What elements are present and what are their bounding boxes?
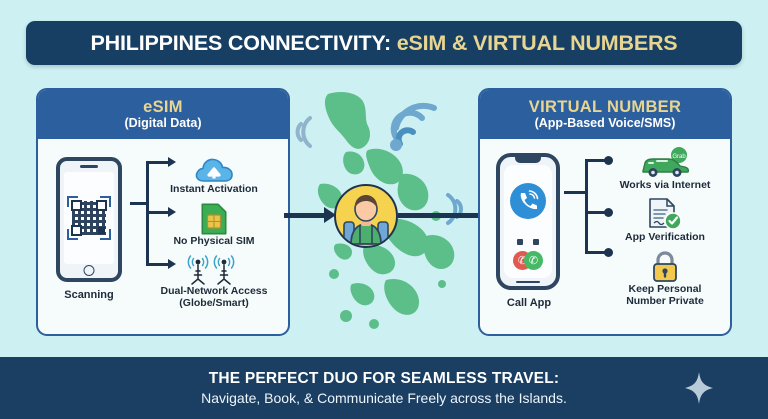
- feature-dual-network-access: Dual-Network Access (Globe/Smart): [156, 251, 272, 309]
- scan-bracket: [100, 196, 111, 207]
- wifi-signal-icon: [382, 100, 444, 152]
- phone-home-button: [84, 265, 95, 276]
- flow-arrow-out: [398, 213, 484, 218]
- panel-esim-header: eSIM (Digital Data): [38, 90, 288, 139]
- document-check-icon: [602, 197, 728, 231]
- scan-bracket: [100, 229, 111, 240]
- bottom-headline: THE PERFECT DUO FOR SEAMLESS TRAVEL:: [209, 370, 560, 388]
- cloud-upload-icon: [156, 149, 272, 183]
- panel-virtual-number-body: ✆ ✆ Call App Grab: [480, 139, 730, 336]
- sparkle-icon: [684, 371, 714, 405]
- phone-screen: [64, 172, 114, 264]
- feature-label: Instant Activation: [156, 183, 272, 195]
- padlock-icon: [602, 249, 728, 283]
- title-lead: PHILIPPINES CONNECTIVITY:: [91, 31, 391, 55]
- call-icon: [510, 183, 546, 219]
- phone-speaker: [80, 165, 98, 168]
- feature-label-line1: Dual-Network Access: [156, 285, 272, 297]
- panel-esim-subtitle: (Digital Data): [124, 117, 201, 130]
- svg-text:Grab: Grab: [672, 154, 686, 160]
- title-accent: eSIM & VIRTUAL NUMBERS: [397, 31, 678, 55]
- infographic-root: PHILIPPINES CONNECTIVITY: eSIM & VIRTUAL…: [0, 0, 768, 419]
- panel-virtual-number-title: VIRTUAL NUMBER: [529, 99, 681, 116]
- sim-card-icon: [156, 201, 272, 235]
- feature-label-line2: (Globe/Smart): [156, 297, 272, 309]
- feature-label-line2: Number Private: [602, 295, 728, 307]
- panel-virtual-number: VIRTUAL NUMBER (App-Based Voice/SMS): [478, 88, 732, 336]
- bottom-banner: THE PERFECT DUO FOR SEAMLESS TRAVEL: Nav…: [0, 357, 768, 419]
- feature-label: Works via Internet: [602, 179, 728, 191]
- feature-works-via-internet: Grab Works via Internet: [602, 145, 728, 191]
- feature-label: App Verification: [602, 231, 728, 243]
- keypad-dot: [517, 239, 523, 245]
- traveler-backpacker-avatar: [334, 184, 398, 248]
- phone-qr-scan-icon: [56, 157, 122, 282]
- cell-towers-icon: [156, 251, 272, 285]
- bottom-subline: Navigate, Book, & Communicate Freely acr…: [201, 390, 567, 406]
- center-map-area: [290, 88, 478, 338]
- signal-arcs-icon: [440, 188, 470, 230]
- title-bar: PHILIPPINES CONNECTIVITY: eSIM & VIRTUAL…: [26, 21, 742, 65]
- phone-call-app-icon: ✆ ✆: [496, 153, 560, 290]
- accept-call-button[interactable]: ✆: [524, 251, 543, 270]
- page-title: PHILIPPINES CONNECTIVITY: eSIM & VIRTUAL…: [91, 31, 678, 56]
- feature-instant-activation: Instant Activation: [156, 149, 272, 195]
- scan-bracket: [67, 196, 78, 207]
- feature-keep-number-private: Keep Personal Number Private: [602, 249, 728, 307]
- call-app-ui: ✆ ✆: [504, 165, 552, 278]
- phone-screen: ✆ ✆: [504, 165, 552, 278]
- feature-no-physical-sim: No Physical SIM: [156, 201, 272, 247]
- panel-esim-title: eSIM: [143, 99, 183, 116]
- panel-esim: eSIM (Digital Data): [36, 88, 290, 336]
- feature-label-line1: Keep Personal: [602, 283, 728, 295]
- phone-notch: [515, 157, 541, 163]
- scan-bracket: [67, 229, 78, 240]
- esim-device-caption: Scanning: [46, 289, 132, 302]
- panel-virtual-number-header: VIRTUAL NUMBER (App-Based Voice/SMS): [480, 90, 730, 139]
- feature-app-verification: App Verification: [602, 197, 728, 243]
- virtual-number-device-caption: Call App: [486, 297, 572, 310]
- grab-car-icon: Grab: [602, 145, 728, 179]
- panel-virtual-number-subtitle: (App-Based Voice/SMS): [535, 117, 676, 130]
- keypad-dot: [533, 239, 539, 245]
- connector-trunk: [585, 159, 588, 251]
- feature-label: No Physical SIM: [156, 235, 272, 247]
- panel-esim-body: Scanning Instant Activation: [38, 139, 288, 336]
- phone-home-bar: [516, 281, 540, 284]
- qr-code-icon: [67, 196, 111, 240]
- signal-arcs-icon: [288, 110, 318, 154]
